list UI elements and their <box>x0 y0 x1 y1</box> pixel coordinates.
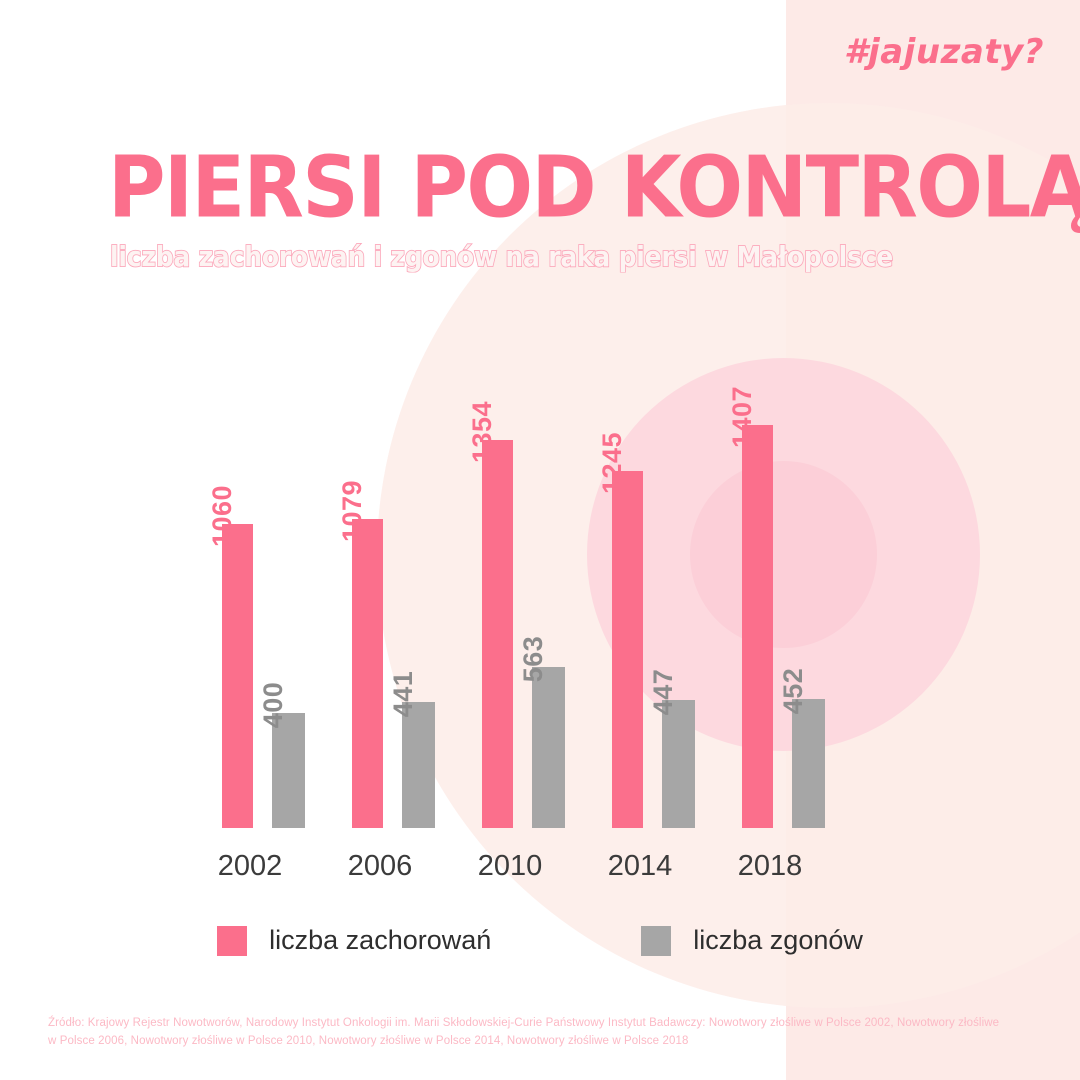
bar-value-label: 1354 <box>467 401 498 463</box>
x-axis-label-2002: 2002 <box>218 850 283 883</box>
legend-item-deaths[interactable]: liczba zgonów <box>641 925 863 956</box>
bar-2018-cases: 1407 <box>742 425 773 828</box>
bar-value-label: 1079 <box>337 480 368 542</box>
x-axis-label-2018: 2018 <box>738 850 803 883</box>
bar-value-label: 447 <box>648 669 679 716</box>
x-axis-label-2010: 2010 <box>478 850 543 883</box>
legend-label: liczba zgonów <box>693 925 863 956</box>
bar-value-label: 1060 <box>207 485 238 547</box>
legend-swatch-icon <box>641 926 671 956</box>
x-axis-label-2014: 2014 <box>608 850 673 883</box>
bar-2002-cases: 1060 <box>222 524 253 828</box>
bar-2018-deaths: 452 <box>792 699 825 828</box>
source-note: Źródło: Krajowy Rejestr Nowotworów, Naro… <box>48 1014 1008 1050</box>
bar-2002-deaths: 400 <box>272 713 305 828</box>
x-axis-label-2006: 2006 <box>348 850 413 883</box>
bar-2006-deaths: 441 <box>402 702 435 828</box>
infographic-poster: #jajuzaty? PIERSI POD KONTROLĄ liczba za… <box>0 0 1080 1080</box>
bar-value-label: 1245 <box>597 432 628 494</box>
bar-value-label: 1407 <box>727 386 758 448</box>
bar-2014-cases: 1245 <box>612 471 643 828</box>
bar-2010-deaths: 563 <box>532 667 565 828</box>
bar-value-label: 452 <box>778 667 809 714</box>
chart-legend: liczba zachorowańliczba zgonów <box>0 925 1080 956</box>
bar-2010-cases: 1354 <box>482 440 513 828</box>
bar-value-label: 441 <box>388 670 419 717</box>
bar-value-label: 400 <box>258 682 289 729</box>
bar-chart: 10604001079441135456312454471407452 2002… <box>0 0 1080 1080</box>
legend-swatch-icon <box>217 926 247 956</box>
legend-item-cases[interactable]: liczba zachorowań <box>217 925 491 956</box>
legend-label: liczba zachorowań <box>269 925 491 956</box>
bar-2014-deaths: 447 <box>662 700 695 828</box>
bar-value-label: 563 <box>518 635 549 682</box>
bar-2006-cases: 1079 <box>352 519 383 828</box>
